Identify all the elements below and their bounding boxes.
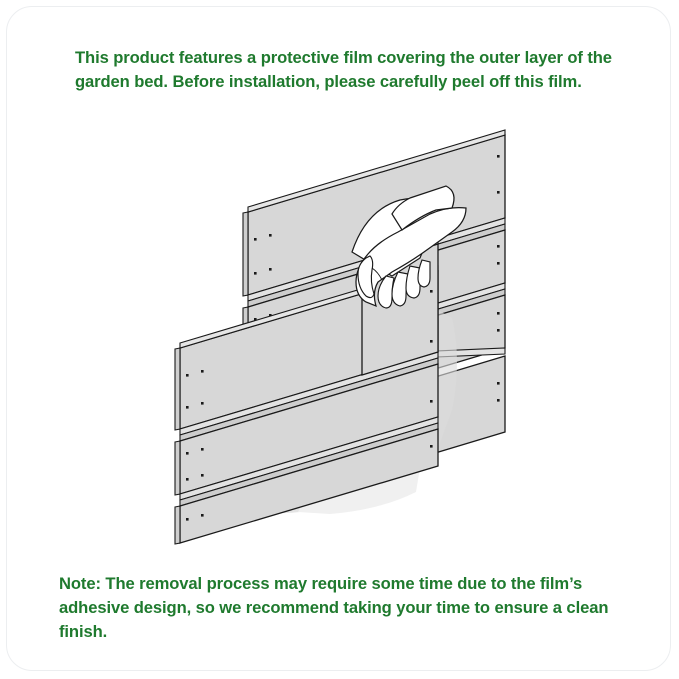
upper-panel-left-flange-1 <box>243 212 248 296</box>
lower-panel-left-flange-2 <box>175 441 180 495</box>
lower-panel-left-flange-3 <box>175 506 180 544</box>
screenshot-root: This product features a protective film … <box>0 0 679 679</box>
garden-bed-film-peel-illustration <box>0 0 679 679</box>
lower-panel-left-flange-1 <box>175 348 180 430</box>
